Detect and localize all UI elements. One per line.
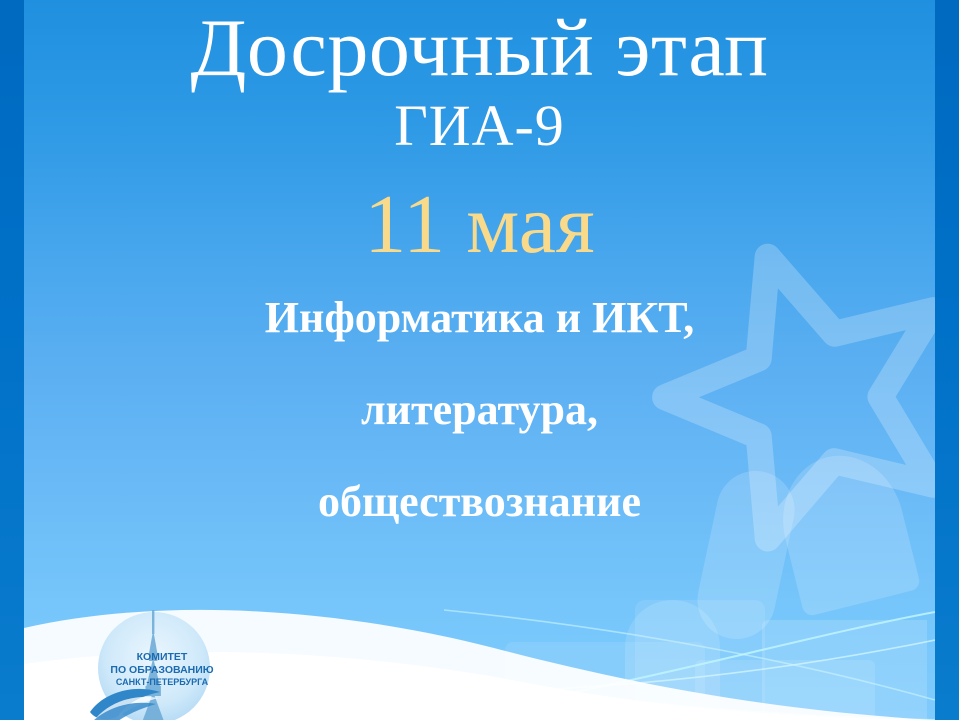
right-edge-band <box>935 0 959 720</box>
announcement-slide: Досрочный этап ГИА-9 11 мая Информатика … <box>0 0 959 720</box>
left-edge-band <box>0 0 24 720</box>
page-title: Досрочный этап <box>24 0 935 90</box>
subject-item: Информатика и ИКТ, <box>24 295 935 387</box>
logo-line-1: КОМИТЕТ <box>137 651 188 663</box>
logo-line-3: САНКТ-ПЕТЕРБУРГА <box>116 677 209 687</box>
logo-line-2: ПО ОБРАЗОВАНИЮ <box>110 664 213 676</box>
slide-content: Досрочный этап ГИА-9 11 мая Информатика … <box>24 0 935 525</box>
subject-list: Информатика и ИКТ, литература, обществоз… <box>24 269 935 526</box>
panel-decoration-1 <box>762 620 927 720</box>
subject-item: обществознание <box>24 479 935 525</box>
committee-logo: КОМИТЕТ ПО ОБРАЗОВАНИЮ САНКТ-ПЕТЕРБУРГА <box>86 600 222 720</box>
subject-item: литература, <box>24 387 935 479</box>
panel-decoration-3 <box>635 600 765 720</box>
panel-decoration-4 <box>505 642 705 720</box>
panel-decoration-2 <box>695 660 875 720</box>
exam-date: 11 мая <box>24 157 935 269</box>
blob-decoration-c <box>625 600 720 720</box>
page-subtitle: ГИА-9 <box>24 90 935 157</box>
